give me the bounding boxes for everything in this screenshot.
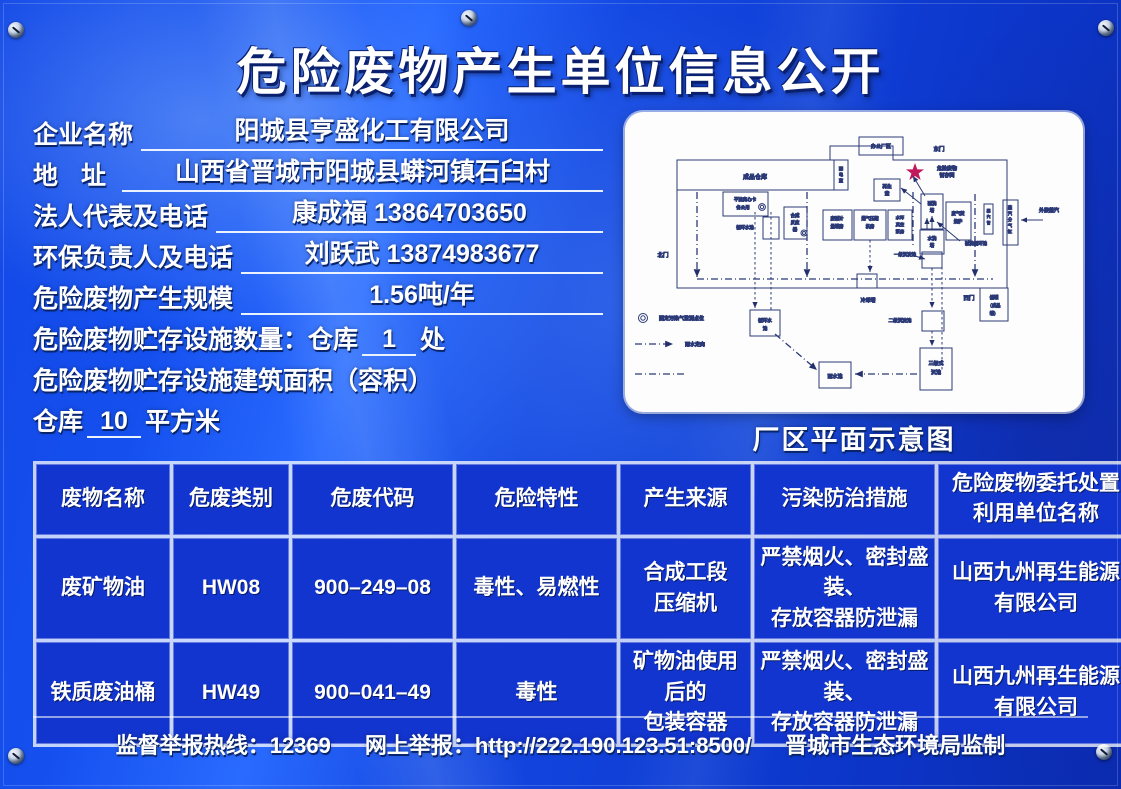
info-value-generation-scale: 1.56吨/年 xyxy=(241,275,603,315)
table-header-row: 废物名称 危废类别 危废代码 危险特性 产生来源 污染防治措施 危险废物委托处置… xyxy=(36,464,1121,535)
diagram-caption: 厂区平面示意图 xyxy=(625,418,1083,457)
cell-waste-category: HW08 xyxy=(173,538,289,639)
footer-divider xyxy=(33,716,1088,718)
svg-text:危险废物: 危险废物 xyxy=(937,165,957,172)
cell-control-line1: 严禁烟火、密封盛装、 xyxy=(757,543,932,604)
svg-text:蒸: 蒸 xyxy=(1008,204,1012,210)
info-value-company: 阳城县亨盛化工有限公司 xyxy=(141,111,603,151)
cell-disposal-line1: 山西九州再生能源 xyxy=(941,662,1121,692)
svg-text:办公厂区: 办公厂区 xyxy=(871,143,891,150)
hazardous-waste-table: 废物名称 危废类别 危废代码 危险特性 产生来源 污染防治措施 危险废物委托处置… xyxy=(33,461,1121,747)
page-title: 危险废物产生单位信息公开 xyxy=(0,32,1121,104)
footer-issuer: 晋城市生态环境局监制 xyxy=(785,728,1005,760)
svg-text:循环水: 循环水 xyxy=(758,317,772,324)
svg-text:外接蒸汽: 外接蒸汽 xyxy=(1039,207,1059,214)
svg-text:量罐房: 量罐房 xyxy=(831,223,844,230)
svg-text:罐）: 罐） xyxy=(990,310,999,317)
svg-text:管: 管 xyxy=(987,220,991,225)
plant-layout-svg: 成品仓库 配 电 室 办公厂区 东门 北门 西门 危险废物 暂存间 xyxy=(625,112,1083,412)
info-label-env-officer: 环保负责人及电话 xyxy=(33,238,233,274)
info-row-storage-area-label: 危险废物贮存设施建筑面积（容积） xyxy=(33,356,603,397)
svg-text:成品仓库: 成品仓库 xyxy=(743,173,767,181)
svg-text:北门: 北门 xyxy=(657,251,668,259)
cell-source-line2: 压缩机 xyxy=(623,589,748,619)
info-value-legal-rep: 康成福 13864703650 xyxy=(216,193,603,233)
svg-text:气: 气 xyxy=(1008,222,1012,228)
information-board: 危险废物产生单位信息公开 企业名称 阳城县亨盛化工有限公司 地 址 山西省晋城市… xyxy=(0,0,1121,789)
storage-area-line: 仓库 10 平方米 xyxy=(33,402,220,438)
info-label-address: 地 址 xyxy=(33,156,114,192)
svg-text:合成: 合成 xyxy=(791,212,800,219)
cell-control-line1: 严禁烟火、密封盛装、 xyxy=(757,647,932,708)
footer-bar: 监督举报热线：12369 网上举报：http://222.190.123.51:… xyxy=(33,728,1088,760)
th-disposal-unit-line1: 危险废物委托处置 xyxy=(941,469,1121,499)
info-row-company: 企业名称 阳城县亨盛化工有限公司 xyxy=(33,110,603,151)
legend-text-rainwater: 雨水走向 xyxy=(685,341,705,348)
storage-count-suffix: 处 xyxy=(420,320,445,356)
info-row-generation-scale: 危险废物产生规模 1.56吨/年 xyxy=(33,274,603,315)
svg-text:泵房: 泵房 xyxy=(896,228,904,235)
corner-screw-top-middle xyxy=(461,10,477,26)
svg-text:烧炉: 烧炉 xyxy=(954,218,963,225)
svg-text:水洗: 水洗 xyxy=(928,235,937,242)
cell-waste-code: 900–249–08 xyxy=(292,538,453,639)
svg-text:汽: 汽 xyxy=(1008,210,1012,216)
svg-text:碱洗循环池: 碱洗循环池 xyxy=(965,240,988,247)
svg-text:电: 电 xyxy=(839,171,844,177)
svg-text:储罐: 储罐 xyxy=(990,294,999,301)
th-waste-code: 危废代码 xyxy=(292,464,453,535)
plant-layout-diagram: 成品仓库 配 电 室 办公厂区 东门 北门 西门 危险废物 暂存间 xyxy=(625,112,1083,412)
svg-text:塔: 塔 xyxy=(930,242,935,249)
svg-text:冷却塔: 冷却塔 xyxy=(860,297,875,304)
info-row-storage-area: 仓库 10 平方米 xyxy=(33,397,603,438)
svg-text:器: 器 xyxy=(793,227,798,233)
cell-disposal-unit: 山西九州再生能源 有限公司 xyxy=(938,538,1121,639)
svg-text:缸: 缸 xyxy=(1008,228,1012,234)
cell-disposal-line2: 有限公司 xyxy=(941,589,1121,619)
storage-area-label: 危险废物贮存设施建筑面积（容积） xyxy=(33,361,433,397)
th-control: 污染防治措施 xyxy=(754,464,935,535)
svg-text:釜: 釜 xyxy=(885,190,890,197)
storage-area-suffix: 平方米 xyxy=(145,402,220,438)
cell-control: 严禁烟火、密封盛装、 存放容器防泄漏 xyxy=(754,538,935,639)
svg-text:东门: 东门 xyxy=(933,145,944,153)
svg-text:水环: 水环 xyxy=(896,214,904,221)
info-label-company: 企业名称 xyxy=(33,115,133,151)
storage-area-value: 10 xyxy=(87,407,141,438)
cell-source-line1: 矿物油使用后的 xyxy=(623,647,748,708)
cell-disposal-line2: 有限公司 xyxy=(941,693,1121,723)
cell-source-line1: 合成工段 xyxy=(623,558,748,588)
svg-text:真空: 真空 xyxy=(896,221,904,228)
corner-screw-bottom-left xyxy=(8,748,24,764)
th-hazard-trait: 危险特性 xyxy=(456,464,617,535)
svg-text:蒸: 蒸 xyxy=(987,208,991,213)
th-disposal-unit-line2: 利用单位名称 xyxy=(941,499,1121,529)
svg-text:碱洗: 碱洗 xyxy=(928,200,937,207)
svg-text:沉池: 沉池 xyxy=(931,369,941,376)
cell-disposal-line1: 山西九州再生能源 xyxy=(941,558,1121,588)
th-waste-name: 废物名称 xyxy=(36,464,170,535)
info-value-address: 山西省晋城市阳城县蟒河镇石臼村 xyxy=(122,152,603,192)
enterprise-info-block: 企业名称 阳城县亨盛化工有限公司 地 址 山西省晋城市阳城县蟒河镇石臼村 法人代… xyxy=(33,110,603,438)
svg-text:废碱计: 废碱计 xyxy=(831,215,845,222)
svg-text:雨水池: 雨水池 xyxy=(827,373,842,380)
svg-text:再生: 再生 xyxy=(882,183,892,190)
info-row-storage-count: 危险废物贮存设施数量：仓库 1 处 xyxy=(33,315,603,356)
svg-text:三级式: 三级式 xyxy=(928,360,943,367)
svg-text:平流离心卡: 平流离心卡 xyxy=(734,196,757,203)
table-row: 废矿物油 HW08 900–249–08 毒性、易燃性 合成工段 压缩机 严禁烟… xyxy=(36,538,1121,639)
info-value-env-officer: 刘跃武 13874983677 xyxy=(241,234,603,274)
svg-text:备公用: 备公用 xyxy=(736,204,749,211)
th-source: 产生来源 xyxy=(620,464,751,535)
svg-text:循环水池: 循环水池 xyxy=(736,224,754,231)
svg-text:反应: 反应 xyxy=(791,219,800,226)
info-row-env-officer: 环保负责人及电话 刘跃武 13874983677 xyxy=(33,233,603,274)
svg-text:煤气压缩: 煤气压缩 xyxy=(861,215,879,222)
info-row-legal-rep: 法人代表及电话 康成福 13864703650 xyxy=(33,192,603,233)
footer-online-report: 网上举报：http://222.190.123.51:8500/ xyxy=(365,728,751,760)
svg-text:（成品: （成品 xyxy=(988,302,1001,309)
legend-text-monitor: 固定污染气监测点位 xyxy=(659,315,704,322)
storage-count-line: 危险废物贮存设施数量：仓库 1 处 xyxy=(33,320,445,356)
th-disposal-unit: 危险废物委托处置 利用单位名称 xyxy=(938,464,1121,535)
cell-hazard-trait: 毒性、易燃性 xyxy=(456,538,617,639)
svg-text:机房: 机房 xyxy=(866,223,875,230)
svg-text:汽: 汽 xyxy=(987,214,991,219)
svg-text:一级沉淀池: 一级沉淀池 xyxy=(894,251,917,258)
svg-text:池: 池 xyxy=(763,325,768,332)
footer-hotline: 监督举报热线：12369 xyxy=(116,728,331,760)
svg-text:废气焚: 废气焚 xyxy=(952,210,966,217)
svg-text:室: 室 xyxy=(839,177,843,183)
svg-text:塔: 塔 xyxy=(930,207,935,214)
th-waste-category: 危废类别 xyxy=(173,464,289,535)
storage-count-value: 1 xyxy=(362,325,416,356)
cell-control-line2: 存放容器防泄漏 xyxy=(757,604,932,634)
storage-count-prefix: 危险废物贮存设施数量：仓库 xyxy=(33,320,358,356)
info-label-legal-rep: 法人代表及电话 xyxy=(33,197,208,233)
svg-text:暂存间: 暂存间 xyxy=(939,172,954,179)
svg-text:二级沉淀池: 二级沉淀池 xyxy=(889,317,912,324)
hazard-storage-star xyxy=(906,163,924,180)
cell-source: 合成工段 压缩机 xyxy=(620,538,751,639)
svg-text:西门: 西门 xyxy=(963,294,974,302)
cell-waste-name: 废矿物油 xyxy=(36,538,170,639)
info-row-address: 地 址 山西省晋城市阳城县蟒河镇石臼村 xyxy=(33,151,603,192)
svg-text:分: 分 xyxy=(1008,216,1012,222)
storage-area-prefix: 仓库 xyxy=(33,402,83,438)
info-label-generation-scale: 危险废物产生规模 xyxy=(33,279,233,315)
